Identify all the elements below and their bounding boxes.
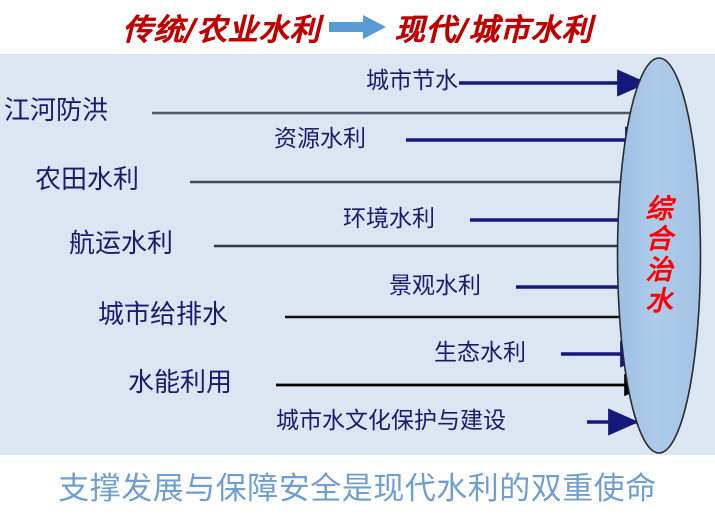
right-item-label-6: 城市水文化保护与建设 — [276, 409, 506, 432]
title-text-right: 现代/城市水利 — [395, 5, 593, 49]
left-item-label-5: 水能利用 — [128, 370, 232, 396]
right-item-label-1: 城市节水 — [366, 69, 458, 92]
right-item-label-4: 景观水利 — [389, 274, 481, 297]
slide-canvas: 传统/农业水利 现代/城市水利 — [0, 0, 715, 516]
slide-title: 传统/农业水利 现代/城市水利 — [0, 0, 715, 54]
left-item-label-4: 城市给排水 — [98, 302, 228, 328]
bottom-banner-text: 支撑发展与保障安全是现代水利的双重使命 — [58, 463, 657, 508]
right-item-label-2: 资源水利 — [274, 127, 366, 150]
title-text-left: 传统/农业水利 — [123, 5, 321, 49]
right-item-label-5: 生态水利 — [434, 341, 526, 364]
left-item-label-2: 农田水利 — [35, 167, 139, 193]
bottom-banner: 支撑发展与保障安全是现代水利的双重使命 — [0, 455, 715, 516]
left-item-label-3: 航运水利 — [69, 231, 173, 257]
diagram-panel: 江河防洪 农田水利 航运水利 城市给排水 水能利用 城市节水 资源水利 环境水利… — [0, 54, 715, 455]
hub-ellipse: 综 合 治 水 — [616, 56, 702, 455]
right-block-arrow-icon — [329, 14, 387, 40]
right-item-label-3: 环境水利 — [343, 207, 435, 230]
left-item-label-1: 江河防洪 — [4, 98, 108, 124]
